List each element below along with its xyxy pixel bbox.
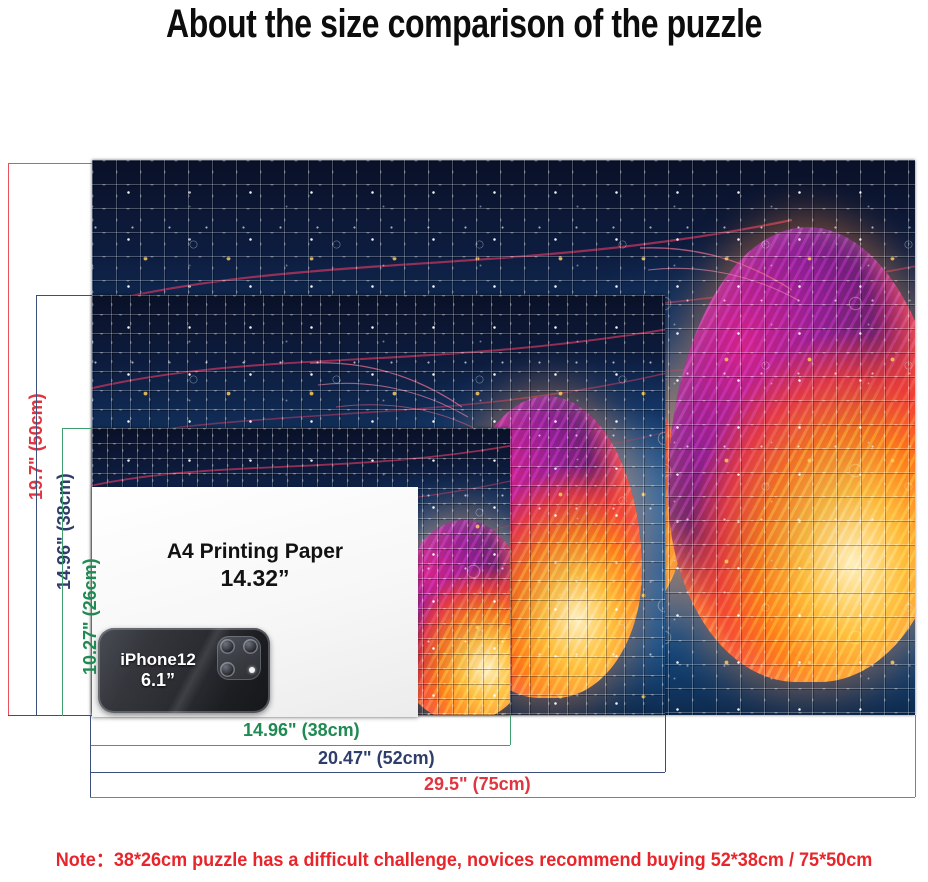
- footer-note: Note：38*26cm puzzle has a difficult chal…: [23, 845, 905, 872]
- camera-lens-icon: [220, 662, 235, 677]
- dimension-label-horizontal-small: 14.96" (38cm): [243, 720, 360, 741]
- dimension-line-vertical-large: [8, 163, 9, 716]
- dimension-line-horizontal-medium: [90, 772, 665, 773]
- dimension-line-horizontal-small: [90, 745, 510, 746]
- dimension-tick-top-small: [62, 428, 92, 429]
- dimension-tick-top-large: [8, 163, 92, 164]
- camera-flash-icon: [249, 667, 255, 673]
- dimension-tick-left-shared: [90, 715, 91, 798]
- dimension-tick-bottom-shared: [8, 715, 92, 716]
- page-title: About the size comparison of the puzzle: [93, 2, 835, 47]
- camera-lens-icon: [243, 639, 258, 654]
- a4-paper-diagonal: 14.32”: [92, 565, 418, 591]
- dimension-label-vertical-small: 10.27" (26cm): [80, 558, 101, 675]
- iphone-diagonal: 6.1”: [104, 670, 212, 690]
- dimension-label-vertical-medium: 14.96" (38cm): [54, 473, 75, 590]
- a4-paper-name: A4 Printing Paper: [167, 540, 343, 563]
- dimension-label-horizontal-medium: 20.47" (52cm): [318, 748, 435, 769]
- camera-module-icon: [217, 636, 261, 680]
- dimension-line-vertical-medium: [36, 295, 37, 716]
- dimension-tick-right-large: [915, 715, 916, 797]
- dimension-tick-right-small: [510, 715, 511, 745]
- a4-paper-label: A4 Printing Paper 14.32”: [92, 539, 418, 591]
- dimension-line-vertical-small: [62, 428, 63, 716]
- camera-lens-icon: [220, 639, 235, 654]
- size-comparison-infographic: About the size comparison of the puzzle: [0, 0, 928, 882]
- dimension-label-horizontal-large: 29.5" (75cm): [424, 774, 531, 795]
- dimension-tick-top-medium: [36, 295, 92, 296]
- iphone-name: iPhone12: [120, 650, 196, 669]
- dimension-line-horizontal-large: [90, 797, 915, 798]
- dimension-tick-right-medium: [665, 715, 666, 772]
- iphone-label: iPhone12 6.1”: [104, 650, 212, 690]
- iphone-reference: iPhone12 6.1”: [98, 628, 270, 713]
